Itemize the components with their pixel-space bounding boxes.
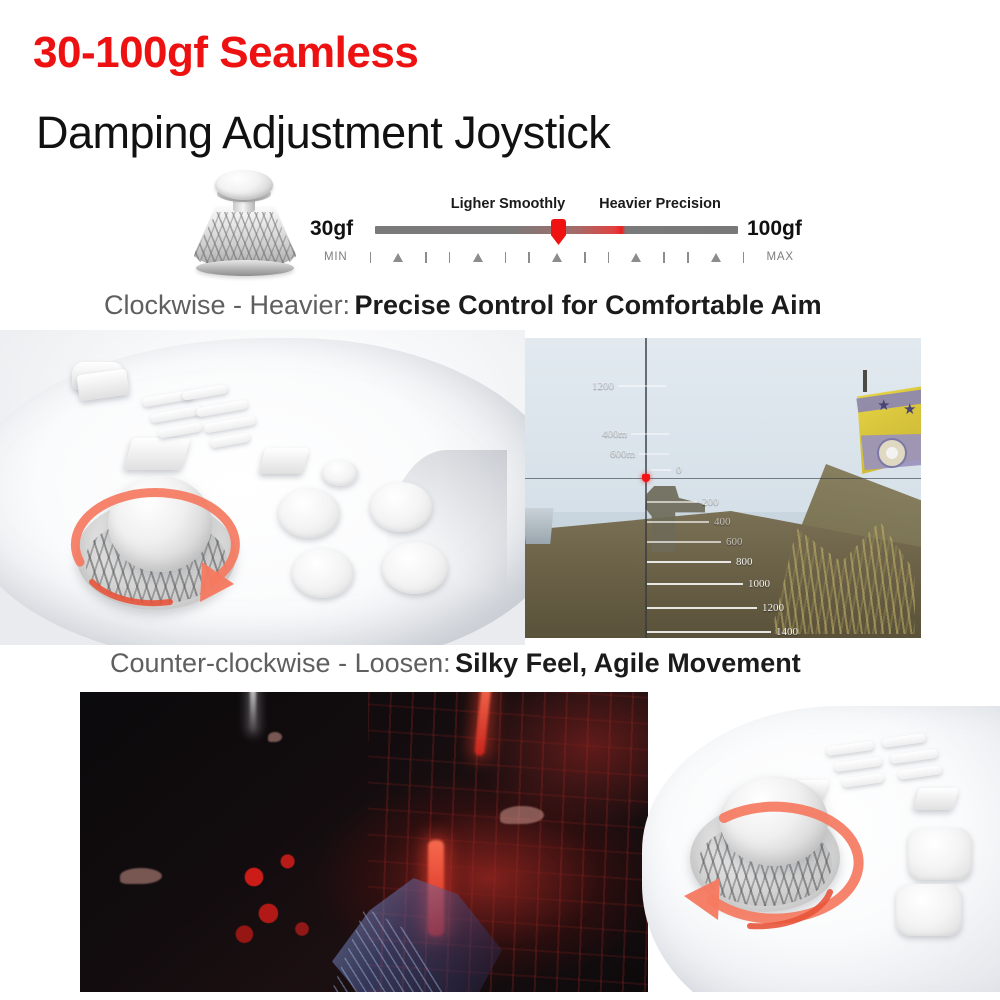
flag-star-icon: ★	[877, 396, 890, 414]
tick-bar	[687, 252, 689, 263]
scope-upper-marker-label: 400m	[602, 428, 627, 440]
action-game-screenshot	[80, 692, 648, 992]
counter-clockwise-demo-panel	[80, 692, 1000, 992]
scope-range-label: 1200	[762, 602, 784, 614]
tick-triangle	[393, 253, 403, 262]
tick-bar	[663, 252, 665, 263]
rotate-clockwise-arrow-icon	[52, 470, 264, 630]
slider-zone-label-heavy: Heavier Precision	[570, 196, 750, 212]
scope-bucket-prop	[525, 508, 555, 544]
slider-zone-label-light: Ligher Smoothly	[423, 196, 593, 212]
caption-counter-label: Counter-clockwise - Loosen:	[110, 648, 451, 678]
scope-range-marker: 800	[647, 556, 753, 568]
flag-star-icon: ★	[903, 400, 916, 418]
face-button-y[interactable]	[370, 482, 432, 532]
caption-clockwise-label: Clockwise - Heavier:	[104, 290, 350, 320]
scope-range-marker: 200	[647, 496, 719, 508]
reticle-aim-dot	[642, 474, 650, 482]
scope-range-marker: 1200	[647, 602, 784, 614]
home-button[interactable]	[322, 460, 358, 486]
scope-range-label: 0	[676, 464, 682, 476]
tick-bar	[449, 252, 451, 263]
slider-tick-scale: MIN MAX	[324, 247, 794, 267]
tick-bar	[528, 252, 530, 263]
joystick-foot	[196, 260, 294, 276]
game-petal	[268, 732, 282, 742]
scope-range-marker: 1000	[647, 578, 770, 590]
controller-top-image	[0, 330, 525, 645]
game-glow-pillar	[250, 692, 256, 732]
caption-counter-value: Silky Feel, Agile Movement	[455, 648, 801, 678]
face-button-a[interactable]	[292, 548, 354, 598]
scope-range-label: 800	[736, 556, 753, 568]
tick-bar	[505, 252, 507, 263]
scope-upper-marker-label: 600m	[610, 448, 635, 460]
face-button-upper[interactable]	[908, 828, 972, 880]
caption-counter-clockwise: Counter-clockwise - Loosen: Silky Feel, …	[110, 648, 801, 679]
controller-bottom-image	[620, 692, 1000, 992]
tick-bar	[608, 252, 610, 263]
face-button-lower[interactable]	[896, 884, 962, 936]
function-button-right[interactable]	[259, 448, 309, 474]
joystick-module-icon	[186, 168, 304, 278]
caption-clockwise: Clockwise - Heavier: Precise Control for…	[104, 290, 822, 321]
joystick-clockwise[interactable]	[52, 470, 264, 630]
slider-max-value: 100gf	[747, 217, 802, 241]
scope-range-label: 1000	[748, 578, 770, 590]
scope-range-marker: 1400	[647, 626, 798, 638]
function-button-left[interactable]	[123, 438, 190, 470]
scope-range-label: 600	[726, 536, 743, 548]
tick-bar	[743, 252, 745, 263]
joystick-counter-clockwise[interactable]	[658, 770, 888, 960]
scope-range-label: 1400	[776, 626, 798, 638]
scope-range-label: 200	[702, 496, 719, 508]
joystick-cap	[215, 170, 273, 200]
flag-pole	[863, 370, 867, 392]
slider-max-label: MAX	[766, 251, 793, 263]
clockwise-demo-panel: ★ ★ 1200 400m 600m	[0, 330, 1000, 645]
slider-min-label: MIN	[324, 251, 347, 263]
tick-triangle	[631, 253, 641, 262]
scope-upper-marker: 600m	[605, 448, 669, 460]
scope-range-marker: 0	[651, 464, 682, 476]
scope-range-marker: 400	[647, 516, 731, 528]
damping-force-slider[interactable]: Ligher Smoothly Heavier Precision 30gf 1…	[310, 196, 810, 282]
rotate-counterclockwise-arrow-icon	[658, 770, 888, 960]
tick-triangle	[711, 253, 721, 262]
scope-upper-marker: 1200	[587, 380, 666, 392]
slider-thumb[interactable]	[551, 219, 566, 245]
shooter-game-screenshot: ★ ★ 1200 400m 600m	[525, 338, 921, 638]
scope-range-marker: 600	[647, 536, 743, 548]
tick-triangle	[473, 253, 483, 262]
game-petal	[500, 806, 544, 824]
page-title-primary: 30-100gf Seamless	[33, 28, 418, 78]
flag-emblem-icon	[877, 438, 907, 468]
tick-bar	[370, 252, 372, 263]
scope-upper-marker: 400m	[597, 428, 669, 440]
tick-bar	[425, 252, 427, 263]
joystick-knurl-texture	[192, 212, 298, 264]
tick-triangle	[552, 253, 562, 262]
product-feature-page: 30-100gf Seamless Damping Adjustment Joy…	[0, 0, 1000, 1000]
page-title-secondary: Damping Adjustment Joystick	[36, 107, 610, 159]
function-button-side[interactable]	[913, 788, 959, 810]
scope-upper-marker-label: 1200	[592, 380, 614, 392]
reticle-horizontal-line	[525, 478, 921, 479]
scope-range-label: 400	[714, 516, 731, 528]
face-button-b[interactable]	[382, 542, 448, 594]
game-petal	[120, 868, 162, 884]
caption-clockwise-value: Precise Control for Comfortable Aim	[355, 290, 822, 320]
face-button-x[interactable]	[278, 488, 340, 538]
slider-min-value: 30gf	[310, 217, 353, 241]
tick-bar	[584, 252, 586, 263]
game-blood-effect	[218, 838, 338, 968]
